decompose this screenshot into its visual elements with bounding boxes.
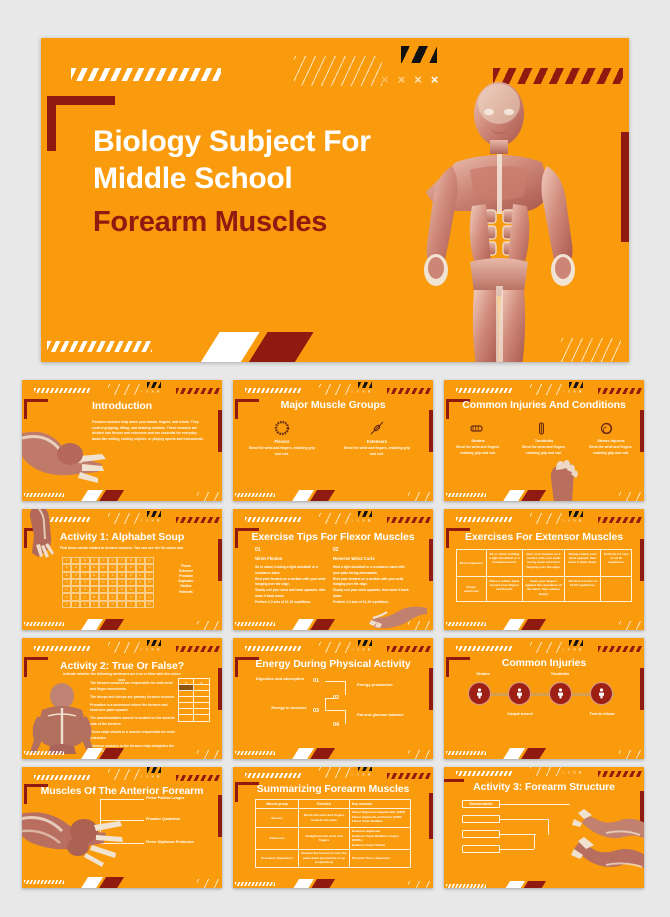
leader-line-3 <box>100 843 144 844</box>
ws-cell[interactable]: T <box>108 564 117 571</box>
cell: Perform 2-3 sets of 15-20 repetitions. <box>565 577 602 601</box>
thumb-title: Muscles Of The Anterior Forearm <box>22 785 222 797</box>
empty-blank-2[interactable] <box>462 830 500 838</box>
ws-cell[interactable]: N <box>117 601 126 608</box>
stripes-black-top <box>401 46 437 63</box>
item-label-stress-injuries: Stress injuries <box>582 438 640 443</box>
empty-blank-3[interactable] <box>462 845 500 853</box>
step-item: Perform 2-3 sets of 10-15 repetitions. <box>333 600 409 606</box>
item-desc-extensors: Bend the wrist and fingers, enabling gri… <box>344 446 410 457</box>
deco-stripes-bl <box>446 493 486 497</box>
cell: Wrist extension <box>457 550 487 577</box>
ws-cell[interactable]: N <box>145 564 154 571</box>
item-desc-flexors: Bend the wrist and fingers, enabling gri… <box>249 446 315 457</box>
node-circle-carpal-tunnel[interactable] <box>508 682 531 705</box>
thumb-title: Summarizing Forearm Muscles <box>233 783 433 795</box>
deco-outline-slash-br <box>197 492 219 501</box>
answer-table[interactable]: T F <box>178 678 210 722</box>
deco-parallelogram <box>295 748 335 759</box>
ws-cell[interactable]: N <box>99 579 108 586</box>
deco-stripes-black <box>147 382 161 388</box>
thumb-summarizing-forearm-muscles[interactable]: ×××× Summarizing Forearm Muscles Muscle … <box>233 767 433 888</box>
statement-list: The forearm muscles are responsible for … <box>90 681 176 755</box>
deco-outline-slash <box>530 767 564 776</box>
cell: Pronators Supinators <box>256 850 299 867</box>
statement: The forearm muscles are responsible for … <box>90 681 176 692</box>
template-preview-page: × × × × Biology Subject For Middle Schoo… <box>0 0 670 917</box>
deco-bar-right <box>429 668 433 710</box>
ws-cell[interactable]: H <box>126 586 135 593</box>
deco-outline-slash-br <box>408 750 430 759</box>
deco-outline-slash <box>530 513 564 524</box>
thumb-muscles-anterior-forearm[interactable]: ×××× Muscles Of The Anterior Forearm Fle… <box>22 767 222 888</box>
ws-cell[interactable]: V <box>145 572 154 579</box>
ws-cell[interactable]: P <box>80 579 89 586</box>
fiber-muscle-icon <box>369 420 385 436</box>
col-header: Function <box>299 800 350 809</box>
ws-cell[interactable]: E <box>62 572 71 579</box>
ws-cell[interactable]: I <box>117 593 126 600</box>
word-item: Palmaris <box>162 590 210 595</box>
step-number-04: 04 <box>333 722 339 728</box>
injury-person-icon <box>596 688 607 699</box>
deco-x-marks: ×××× <box>351 390 371 395</box>
thumb-title: Introduction <box>92 400 206 412</box>
deco-stripes-tl <box>34 388 90 393</box>
node-label-tendinitis: Tendinitis <box>534 671 586 676</box>
ws-cell[interactable]: D <box>99 601 108 608</box>
ws-cell[interactable]: T <box>80 572 89 579</box>
deco-stripes-tr <box>598 517 642 523</box>
outline-slashes-bottom-right <box>561 338 621 362</box>
deco-outline-slash <box>108 384 142 395</box>
deco-bar-right <box>218 795 222 837</box>
cell: Flexors <box>256 809 299 828</box>
deco-stripes-tl <box>245 517 301 522</box>
leader-line-4v <box>534 834 535 849</box>
leader-line-2 <box>500 819 548 820</box>
cell: Extensor digitorum Extensor Carpi Radial… <box>350 828 410 850</box>
ws-cell[interactable]: R <box>126 572 135 579</box>
cell: Place a rubber band around your fingers … <box>487 577 524 601</box>
deco-stripes-tl <box>34 646 90 651</box>
deco-parallelogram <box>84 748 124 759</box>
ws-cell[interactable]: S <box>62 579 71 586</box>
deco-stripes-black <box>358 640 372 646</box>
ws-cell[interactable]: O <box>117 564 126 571</box>
col-header: Key muscles <box>350 800 410 809</box>
ws-cell[interactable]: U <box>136 572 145 579</box>
table-row[interactable] <box>179 715 209 721</box>
item-desc-strains: Bend the wrist and fingers, enabling gri… <box>454 445 502 456</box>
thumb-title: Exercise Tips For Flexor Muscles <box>233 531 433 543</box>
step-label-04: Fat and glucose balance <box>357 712 409 718</box>
node-circle-strains[interactable] <box>468 682 491 705</box>
connector-line <box>345 681 346 695</box>
spiral-icon <box>600 422 613 435</box>
step-item: Rest your forearm on a surface with your… <box>333 577 409 588</box>
step-heading-01: Wrist Flexion <box>255 556 283 561</box>
raised-arm-icon <box>540 459 580 501</box>
connector-line <box>345 710 346 724</box>
deco-x-marks: ×××× <box>140 390 160 395</box>
step-number-01: 01 <box>313 678 319 684</box>
deco-outline-slash-br <box>619 492 641 501</box>
cell: Flexor Digitorum Superficialis (FDS) Fle… <box>350 809 410 828</box>
ws-cell[interactable]: O <box>126 579 135 586</box>
deco-stripes-tr <box>387 646 431 652</box>
step-number-03: 03 <box>313 708 319 714</box>
ws-cell[interactable]: M <box>145 601 154 608</box>
deco-stripes-black <box>358 382 372 388</box>
table-header-row: Muscle group Function Key muscles <box>256 800 410 809</box>
deco-x-marks: ×××× <box>351 648 371 653</box>
ws-cell[interactable]: O <box>117 572 126 579</box>
deco-outline-slash-br <box>619 621 641 630</box>
thumb-title: Energy During Physical Activity <box>233 658 433 670</box>
ws-cell[interactable]: I <box>90 579 99 586</box>
ws-cell[interactable]: E <box>80 557 89 564</box>
thumb-common-injuries-conditions[interactable]: ×××× Common Injuries And Conditions Stra… <box>444 380 644 501</box>
ws-cell[interactable]: G <box>145 593 154 600</box>
step-label-02: Energy production <box>357 682 409 688</box>
deco-bar-right <box>429 539 433 581</box>
deco-stripes-black <box>569 382 583 388</box>
deco-x-marks: ×××× <box>351 773 371 778</box>
deco-stripes-bl <box>446 751 486 755</box>
deco-parallelogram <box>506 619 546 630</box>
thumb-activity-3-forearm-structure[interactable]: ×××× Activity 3: Forearm Structure Brach… <box>444 767 644 888</box>
deco-stripes-black <box>147 640 161 646</box>
thumb-title: Major Muscle Groups <box>233 399 433 411</box>
statement: The biceps and triceps are primary forea… <box>90 695 176 701</box>
injury-person-icon <box>474 688 485 699</box>
empty-blank-1[interactable] <box>462 815 500 823</box>
deco-stripes-tl <box>34 775 90 780</box>
step-label-01: Digestion and absorption <box>255 676 305 682</box>
ws-cell[interactable]: S <box>126 593 135 600</box>
ws-cell[interactable]: C <box>145 586 154 593</box>
ws-cell[interactable]: R <box>71 564 80 571</box>
thumb-common-injuries[interactable]: ×××× Common Injuries Strains Carpal tunn… <box>444 638 644 759</box>
ws-cell[interactable]: N <box>90 601 99 608</box>
cell: Open your fingers against the resistance… <box>523 577 565 601</box>
ws-cell[interactable]: A <box>99 564 108 571</box>
deco-stripes-bl <box>235 622 275 626</box>
deco-bar-right <box>640 668 644 710</box>
deco-bar-right <box>218 410 222 452</box>
ws-cell[interactable]: A <box>108 579 117 586</box>
deco-stripes-tr <box>598 646 642 652</box>
deco-stripes-tr <box>598 388 642 394</box>
answer-cell[interactable] <box>194 715 209 721</box>
ws-cell[interactable]: Y <box>126 601 135 608</box>
anterior-forearm-icon <box>22 801 136 867</box>
step-item: Perform 2-3 sets of 10-15 repetitions. <box>255 600 329 606</box>
thumb-title: Exercises For Extensor Muscles <box>444 531 644 543</box>
deco-stripes-tr <box>176 388 220 394</box>
ws-cell[interactable]: F <box>62 557 71 564</box>
table-row: Pronators Supinators Rotates the forearm… <box>256 850 410 867</box>
thumb-title: Common Injuries And Conditions <box>444 399 644 411</box>
ws-cell[interactable]: M <box>126 557 135 564</box>
ws-cell[interactable]: J <box>136 586 145 593</box>
deco-stripes-tl <box>245 773 301 778</box>
deco-x-marks: ×××× <box>351 519 371 524</box>
deco-x-marks: ×××× <box>562 519 582 524</box>
thumb-title: Common Injuries <box>444 657 644 669</box>
leader-line-4 <box>500 849 534 850</box>
injury-person-icon <box>514 688 525 699</box>
deco-outline-slash-br <box>197 879 219 888</box>
deco-bar-right <box>429 793 433 839</box>
deco-bar-right <box>218 668 222 710</box>
deco-outline-slash-br <box>408 621 430 630</box>
thumb-energy-physical-activity[interactable]: ×××× Energy During Physical Activity Dig… <box>233 638 433 759</box>
step-item: Hold a light dumbbell or a resistance ba… <box>333 565 409 576</box>
node-circle-tennis-elbow[interactable] <box>590 682 613 705</box>
connector-line <box>325 698 335 699</box>
ws-cell[interactable]: R <box>126 564 135 571</box>
thumb-activity-2-true-or-false[interactable]: ×××× Activity 2: True Or False? Indicate… <box>22 638 222 759</box>
deco-outline-slash <box>319 384 353 395</box>
table-row: Flexors Bends the wrist and fingers towa… <box>256 809 410 828</box>
ws-cell[interactable]: R <box>62 586 71 593</box>
hero-subtitle: Forearm Muscles <box>93 206 327 239</box>
ws-cell[interactable]: N <box>99 572 108 579</box>
bandage-icon <box>470 422 483 435</box>
summary-table: Muscle group Function Key muscles Flexor… <box>255 799 411 868</box>
deco-bar-right <box>640 410 644 452</box>
ws-cell[interactable]: O <box>80 564 89 571</box>
deco-parallelogram <box>84 619 124 630</box>
deco-stripes-tl <box>245 388 301 393</box>
statement: Flexor carpi ulnaris is a muscle respons… <box>90 730 176 741</box>
cell: Slowly extend your wrist upward, then lo… <box>565 550 602 577</box>
deco-stripes-tl <box>245 646 301 651</box>
deco-stripes-bl <box>446 622 486 626</box>
deco-outline-slash <box>108 513 142 524</box>
connector-line <box>325 681 345 682</box>
deco-outline-slash-br <box>619 750 641 759</box>
thumb-exercise-tips-flexor[interactable]: ×××× Exercise Tips For Flexor Muscles 01… <box>233 509 433 630</box>
exercise-table: Wrist extension Sit or stand, holding a … <box>456 549 632 602</box>
deco-bar-right <box>218 539 222 581</box>
step-heading-02: Reverse Wrist Curls <box>333 556 375 561</box>
leader-vertical <box>100 799 101 843</box>
thumb-activity-1-alphabet-soup[interactable]: ×××× Activity 1: Alphabet Soup Find thes… <box>22 509 222 630</box>
cell <box>601 577 631 601</box>
label-pronator-quadratus: Pronator Quadratus <box>146 817 180 821</box>
ws-cell[interactable]: B <box>117 586 126 593</box>
thumb-exercises-extensor[interactable]: ×××× Exercises For Extensor Muscles Wris… <box>444 509 644 630</box>
deco-x-marks: ×××× <box>562 390 582 395</box>
deco-x-marks: ×××× <box>140 519 160 524</box>
outline-slashes-top <box>294 56 382 86</box>
ws-cell[interactable]: S <box>108 586 117 593</box>
deco-outline-slash-br <box>197 750 219 759</box>
deco-stripes-bl <box>24 880 64 884</box>
ws-cell[interactable]: O <box>99 557 108 564</box>
ws-cell[interactable]: D <box>80 586 89 593</box>
ws-cell[interactable]: F <box>136 601 145 608</box>
cell: Straightens the wrist and fingers <box>299 828 350 850</box>
thumb-major-muscle-groups[interactable]: ×××× Major Muscle Groups Flexors Bend th… <box>233 380 433 501</box>
deco-x-marks: ×××× <box>140 648 160 653</box>
cell: Rotates the forearm to turn the palm dow… <box>299 850 350 867</box>
item-label-tendinitis: Tendinitis <box>516 438 572 443</box>
ws-cell[interactable]: I <box>90 586 99 593</box>
two-forearms-icon <box>570 791 644 881</box>
table-row: Extensors Straightens the wrist and fing… <box>256 828 410 850</box>
deco-stripes-tr <box>598 771 642 777</box>
cell: Perform 2-3 sets of 10-15 repetitions. <box>601 550 631 577</box>
cell: Rest your forearm on a surface with your… <box>523 550 565 577</box>
deco-x-marks: ×××× <box>562 648 582 653</box>
deco-stripes-bl <box>24 493 64 497</box>
deco-outline-slash-br <box>408 492 430 501</box>
hero-title-line1: Biology Subject For <box>93 125 371 158</box>
ws-cell[interactable]: A <box>71 593 80 600</box>
ws-cell[interactable]: L <box>80 593 89 600</box>
thumb-body: Find these words related to forearm musc… <box>52 546 192 552</box>
back-muscles-icon <box>28 682 98 754</box>
connector-line <box>325 698 326 710</box>
ws-cell[interactable]: O <box>108 601 117 608</box>
stripes-top-left <box>71 68 221 81</box>
thumb-body: Forearm muscles help move your hands, fi… <box>92 420 204 442</box>
ws-cell[interactable]: T <box>71 601 80 608</box>
ws-cell[interactable]: E <box>90 572 99 579</box>
item-label-extensors: Extensors <box>342 439 412 444</box>
deco-stripes-black <box>147 767 161 773</box>
ws-cell[interactable]: W <box>145 579 154 586</box>
ws-cell[interactable]: M <box>90 593 99 600</box>
deco-bar-right <box>640 539 644 581</box>
deco-stripes-bl <box>235 751 275 755</box>
deco-stripes-tr <box>387 517 431 523</box>
deco-stripes-tl <box>456 646 512 651</box>
ws-cell[interactable]: X <box>71 572 80 579</box>
step-label-03: Energy in muscles <box>265 705 313 711</box>
thumb-title: Activity 2: True Or False? <box>22 660 222 672</box>
deco-parallelogram <box>506 881 546 888</box>
ws-cell[interactable]: X <box>90 557 99 564</box>
col-header: Muscle group <box>256 800 299 809</box>
ws-cell[interactable]: R <box>108 557 117 564</box>
body-anatomy-icon <box>392 74 607 362</box>
deco-stripes-tl <box>456 388 512 393</box>
deco-outline-slash <box>108 769 142 780</box>
cell: Extensors <box>256 828 299 850</box>
ws-cell[interactable]: E <box>80 601 89 608</box>
parallelogram-bottom <box>209 332 314 362</box>
table-row: Wrist extension Sit or stand, holding a … <box>457 550 631 577</box>
ws-cell[interactable]: P <box>62 593 71 600</box>
filled-blank-brachioradialis[interactable]: Brachioradialis <box>462 800 500 808</box>
deco-stripes-bl <box>235 493 275 497</box>
step-item: Rest your forearm on a surface with your… <box>255 577 329 588</box>
ws-cell[interactable]: L <box>71 557 80 564</box>
ws-cell[interactable]: T <box>117 579 126 586</box>
hero-slide[interactable]: × × × × Biology Subject For Middle Schoo… <box>41 38 629 362</box>
step-number-01: 01 <box>255 547 261 553</box>
answer-cell[interactable] <box>179 715 194 721</box>
deco-stripes-tl <box>456 517 512 522</box>
ws-cell[interactable]: R <box>108 593 117 600</box>
leader-line-1 <box>500 804 570 805</box>
ws-cell[interactable]: K <box>136 564 145 571</box>
ws-cell[interactable]: Q <box>136 557 145 564</box>
deco-parallelogram <box>84 490 124 501</box>
ws-cell[interactable]: A <box>71 586 80 593</box>
leader-line-2 <box>100 820 144 821</box>
leader-line-2v <box>548 819 549 835</box>
deco-outline-slash <box>319 767 353 778</box>
ws-cell[interactable]: A <box>99 593 108 600</box>
ring-muscle-icon <box>274 420 290 436</box>
ws-cell[interactable]: D <box>136 593 145 600</box>
ws-cell[interactable]: R <box>136 579 145 586</box>
deco-stripes-bl <box>24 622 64 626</box>
statement: The brachioradialis muscle is located on… <box>90 716 176 727</box>
step-item: Sit or stand, holding a light dumbbell o… <box>255 565 329 576</box>
node-label-strains: Strains <box>458 671 508 676</box>
deco-outline-slash-br <box>197 621 219 630</box>
item-label-strains: Strains <box>450 438 506 443</box>
page-title: Biology Subject For Middle School <box>93 124 423 197</box>
hero-title-line2: Middle School <box>93 162 292 195</box>
thumb-title: Activity 1: Alphabet Soup <box>22 531 222 543</box>
word-search-grid[interactable]: FLEXORTMQS PRONATORKN EXTENSORUV SUPINAT… <box>62 557 154 608</box>
label-flexor-pollicis-longus: Flexor Pollicis Longus <box>146 796 184 800</box>
cell: Pronator Teres, Supinator <box>350 850 410 867</box>
deco-stripes-black <box>569 640 583 646</box>
injury-person-icon <box>555 688 566 699</box>
deco-stripes-tr <box>176 775 220 781</box>
deco-parallelogram <box>506 748 546 759</box>
deco-stripes-black <box>358 767 372 771</box>
deco-stripes-tr <box>176 517 220 523</box>
ws-cell[interactable]: U <box>71 579 80 586</box>
ws-cell[interactable]: T <box>117 557 126 564</box>
hero-anatomy-figure <box>392 74 607 362</box>
deco-stripes-black <box>147 511 161 517</box>
thumb-introduction[interactable]: ×××× Introduction Forearm muscles help m… <box>22 380 222 501</box>
table-row: Finger extension Place a rubber band aro… <box>457 577 631 601</box>
deco-x-marks: ×××× <box>140 775 160 780</box>
stripes-bottom-left <box>47 341 152 352</box>
ws-cell[interactable]: S <box>108 572 117 579</box>
ws-cell[interactable]: S <box>145 557 154 564</box>
step-list-02: Hold a light dumbbell or a resistance ba… <box>333 565 409 606</box>
deco-outline-slash <box>319 513 353 524</box>
deco-parallelogram <box>295 879 335 888</box>
node-label-tennis-elbow: Tennis elbow <box>576 711 628 716</box>
deco-corner-bracket <box>24 399 48 419</box>
deco-outline-slash-br <box>408 881 430 888</box>
ws-cell[interactable]: Z <box>62 601 71 608</box>
ws-cell[interactable]: N <box>90 564 99 571</box>
ws-cell[interactable]: U <box>99 586 108 593</box>
item-desc-stress-injuries: Bend the wrist and fingers, enabling gri… <box>586 445 636 456</box>
deco-x-marks: ×××× <box>562 771 582 776</box>
node-circle-tendinitis[interactable] <box>549 682 572 705</box>
item-label-flexors: Flexors <box>247 439 317 444</box>
deco-stripes-tl <box>456 771 512 776</box>
ws-cell[interactable]: P <box>62 564 71 571</box>
deco-outline-slash <box>530 384 564 395</box>
